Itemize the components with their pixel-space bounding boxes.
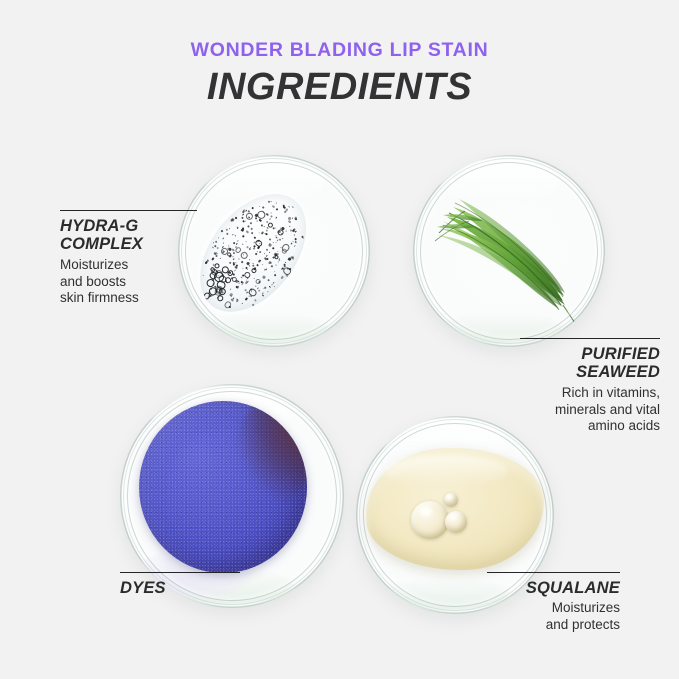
callout-heading-line-1: SQUALANE bbox=[487, 579, 620, 597]
dish-rim-green-tint bbox=[413, 155, 605, 347]
callout-leader-line bbox=[60, 210, 197, 211]
callout-leader-line bbox=[120, 572, 240, 573]
callout-heading: HYDRA-G COMPLEX bbox=[60, 217, 197, 254]
callout-body-line-3: skin firmness bbox=[60, 290, 197, 307]
petri-dish-purified-seaweed bbox=[413, 155, 605, 347]
dish-rim-green-tint bbox=[178, 155, 370, 347]
callout-body-line-1: Moisturizes bbox=[487, 600, 620, 617]
callout-leader-line bbox=[520, 338, 660, 339]
page-title: INGREDIENTS bbox=[0, 68, 679, 108]
callout-heading-line-1: DYES bbox=[120, 579, 240, 597]
callout-dyes: DYES bbox=[120, 572, 240, 597]
callout-squalane: SQUALANE Moisturizes and protects bbox=[487, 572, 620, 634]
callout-body-line-1: Rich in vitamins, bbox=[520, 385, 660, 402]
callout-heading-line-2: COMPLEX bbox=[60, 235, 197, 253]
callout-body-line-1: Moisturizes bbox=[60, 257, 197, 274]
product-name-subtitle: WONDER BLADING LIP STAIN bbox=[0, 40, 679, 61]
callout-heading-line-2: SEAWEED bbox=[520, 363, 660, 381]
petri-dish-hydra-g-complex bbox=[178, 155, 370, 347]
callout-body-line-2: and boosts bbox=[60, 274, 197, 291]
callout-body: Rich in vitamins, minerals and vital ami… bbox=[520, 385, 660, 435]
callout-body-line-3: amino acids bbox=[520, 418, 660, 435]
callout-heading: DYES bbox=[120, 579, 240, 597]
ingredients-infographic: WONDER BLADING LIP STAIN INGREDIENTS bbox=[0, 0, 679, 679]
callout-body: Moisturizes and protects bbox=[487, 600, 620, 633]
callout-heading-line-1: PURIFIED bbox=[520, 345, 660, 363]
callout-body-line-2: minerals and vital bbox=[520, 402, 660, 419]
callout-hydra-g-complex: HYDRA-G COMPLEX Moisturizes and boosts s… bbox=[60, 210, 197, 307]
callout-body: Moisturizes and boosts skin firmness bbox=[60, 257, 197, 307]
page-title-block: WONDER BLADING LIP STAIN INGREDIENTS bbox=[0, 40, 679, 108]
callout-heading: PURIFIED SEAWEED bbox=[520, 345, 660, 382]
callout-heading: SQUALANE bbox=[487, 579, 620, 597]
callout-body-line-2: and protects bbox=[487, 617, 620, 634]
callout-heading-line-1: HYDRA-G bbox=[60, 217, 197, 235]
callout-purified-seaweed: PURIFIED SEAWEED Rich in vitamins, miner… bbox=[520, 338, 660, 435]
callout-leader-line bbox=[487, 572, 620, 573]
